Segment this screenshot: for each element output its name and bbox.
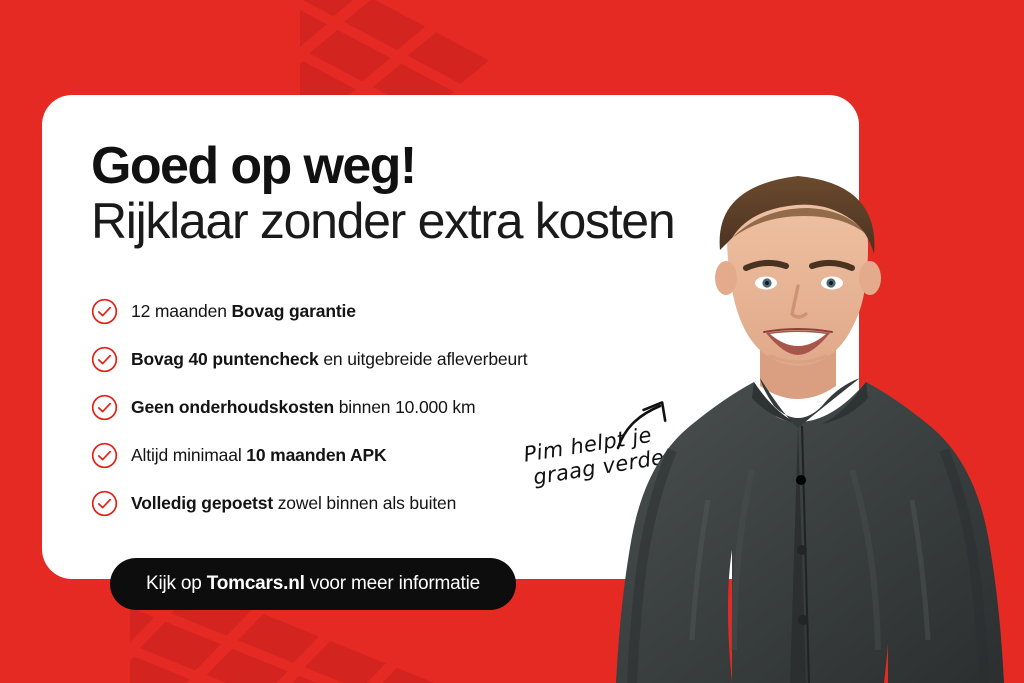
benefits-list: 12 maanden Bovag garantie Bovag 40 punte… bbox=[91, 287, 651, 527]
list-item: Volledig gepoetst zowel binnen als buite… bbox=[91, 479, 651, 527]
list-item-label: 12 maanden Bovag garantie bbox=[131, 301, 356, 322]
list-item-pre: Altijd minimaal bbox=[131, 445, 246, 465]
check-circle-icon bbox=[91, 346, 118, 373]
check-circle-icon bbox=[91, 442, 118, 469]
list-item-label: Bovag 40 puntencheck en uitgebreide afle… bbox=[131, 349, 527, 370]
list-item-label: Volledig gepoetst zowel binnen als buite… bbox=[131, 493, 456, 514]
cta-bold: Tomcars.nl bbox=[207, 573, 305, 594]
list-item: 12 maanden Bovag garantie bbox=[91, 287, 651, 335]
list-item: Bovag 40 puntencheck en uitgebreide afle… bbox=[91, 335, 651, 383]
list-item-bold: Volledig gepoetst bbox=[131, 493, 273, 513]
list-item: Geen onderhoudskosten binnen 10.000 km bbox=[91, 383, 651, 431]
cta-button[interactable]: Kijk op Tomcars.nl voor meer informatie bbox=[110, 558, 516, 610]
check-circle-icon bbox=[91, 394, 118, 421]
list-item-pre: 12 maanden bbox=[131, 301, 232, 321]
cta-post: voor meer informatie bbox=[305, 573, 480, 594]
cta-pre: Kijk op bbox=[146, 573, 207, 594]
check-circle-icon bbox=[91, 490, 118, 517]
list-item-label: Geen onderhoudskosten binnen 10.000 km bbox=[131, 397, 475, 418]
list-item-post: en uitgebreide afleverbeurt bbox=[319, 349, 528, 369]
list-item: Altijd minimaal 10 maanden APK bbox=[91, 431, 651, 479]
list-item-bold: 10 maanden APK bbox=[246, 445, 386, 465]
check-circle-icon bbox=[91, 298, 118, 325]
list-item-post: zowel binnen als buiten bbox=[273, 493, 456, 513]
cta-label: Kijk op Tomcars.nl voor meer informatie bbox=[146, 573, 480, 595]
person-photo bbox=[612, 150, 1024, 683]
list-item-bold: Bovag 40 puntencheck bbox=[131, 349, 319, 369]
list-item-label: Altijd minimaal 10 maanden APK bbox=[131, 445, 387, 466]
list-item-bold: Geen onderhoudskosten bbox=[131, 397, 334, 417]
banner-root: Goed op weg! Rijklaar zonder extra koste… bbox=[0, 0, 1024, 683]
list-item-post: binnen 10.000 km bbox=[334, 397, 475, 417]
list-item-bold: Bovag garantie bbox=[232, 301, 356, 321]
